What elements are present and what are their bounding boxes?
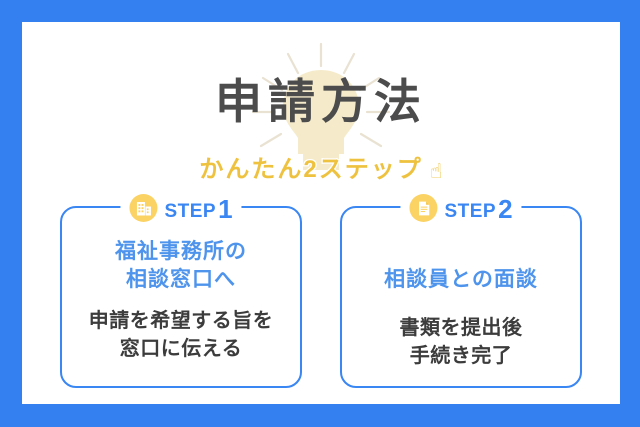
step-header-1: STEP 1 [120,194,241,222]
building-icon [129,194,157,222]
step-heading-1: 福祉事務所の 相談窓口へ [62,238,300,295]
outer-blue-frame: 申請方法 かんたん2ステップ ☝ [0,0,640,427]
step-label-1: STEP 1 [164,195,232,221]
step-word-1: STEP [164,202,216,221]
step-detail-1: 申請を希望する旨を 窓口に伝える [62,307,300,363]
step-card-1[interactable]: STEP 1 福祉事務所の 相談窓口へ 申請を希望する旨を 窓口に伝える [60,206,302,388]
page-title: 申請方法 [22,78,620,125]
step-body-1: 福祉事務所の 相談窓口へ 申請を希望する旨を 窓口に伝える [62,238,300,363]
pointing-finger-icon: ☝ [430,161,443,182]
step-header-2: STEP 2 [400,194,521,222]
subtitle-row: かんたん2ステップ ☝ [22,158,620,182]
step-number-1: 1 [218,196,232,222]
step-number-2: 2 [498,196,512,222]
title-block: 申請方法 かんたん2ステップ ☝ [22,36,620,186]
content-card: 申請方法 かんたん2ステップ ☝ [22,22,620,404]
document-icon [409,194,437,222]
step-word-2: STEP [444,202,496,221]
step-detail-2: 書類を提出後 手続き完了 [342,314,580,370]
steps-container: STEP 1 福祉事務所の 相談窓口へ 申請を希望する旨を 窓口に伝える [60,206,582,388]
step-card-2[interactable]: STEP 2 相談員との面談 書類を提出後 手続き完了 [340,206,582,388]
subtitle-text: かんたん2ステップ [199,158,422,182]
step-body-2: 相談員との面談 書類を提出後 手続き完了 [342,238,580,370]
step-heading-2: 相談員との面談 [342,266,580,294]
step-label-2: STEP 2 [444,195,512,221]
